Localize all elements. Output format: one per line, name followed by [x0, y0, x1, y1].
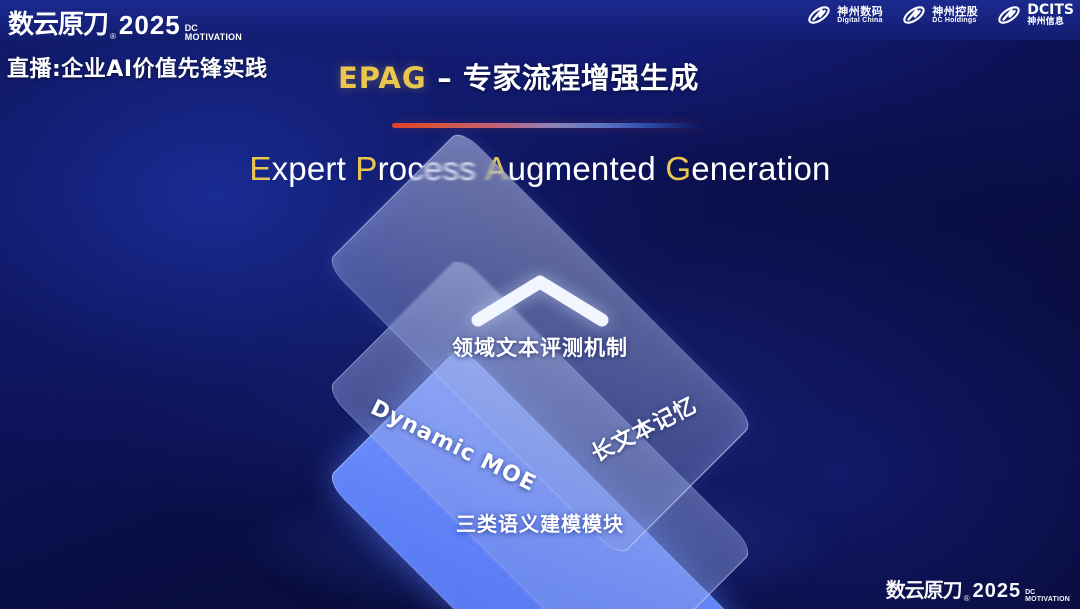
expansion-rest-augmented: ugmented	[508, 150, 656, 187]
event-logo-year: 2025	[119, 10, 181, 41]
layer-plate	[325, 128, 754, 557]
title-divider	[392, 123, 700, 128]
diagram-layer-bottom	[325, 345, 754, 609]
expansion-rest-generation: eneration	[691, 150, 830, 187]
partner-name-en: 神州信息	[1027, 18, 1074, 27]
event-logo-motivation: MOTIVATION	[1025, 597, 1070, 603]
expansion-cap-g: G	[665, 150, 691, 187]
partner-logo-dcits: DCITS 神州信息	[996, 2, 1074, 28]
expansion-cap-e: E	[249, 150, 271, 187]
expansion-rest-expert: xpert	[272, 150, 346, 187]
page-title: EPAG – 专家流程增强生成	[338, 55, 699, 97]
partner-name-en: Digital China	[837, 17, 883, 24]
event-logo-motivation: MOTIVATION	[185, 33, 242, 41]
event-logo-header: 数云原刀 ® 2025 DC MOTIVATION	[8, 4, 242, 41]
expansion-cap-p: P	[355, 150, 377, 187]
title-acronym: EPAG	[338, 61, 427, 95]
title-dash: –	[427, 61, 463, 95]
swirl-logo-icon	[806, 2, 832, 28]
partner-name-cn: 神州数码	[837, 6, 883, 18]
registered-mark: ®	[110, 32, 116, 41]
event-logo-cn: 数云原刀	[886, 574, 962, 603]
partner-name-cn: 神州控股	[932, 6, 978, 18]
layer-label-dynamic-moe: Dynamic MOE	[367, 395, 541, 497]
layer-label-top: 领域文本评测机制	[0, 332, 1080, 362]
slide-canvas: 数云原刀 ® 2025 DC MOTIVATION 神州数码 Digital C…	[0, 0, 1080, 609]
title-chinese: 专家流程增强生成	[463, 61, 699, 95]
swirl-logo-icon	[996, 2, 1022, 28]
acronym-expansion: Expert Process Augmented Generation	[0, 150, 1080, 188]
layer-label-bottom: 三类语义建模模块	[0, 508, 1080, 537]
diagram-layer-top	[325, 128, 754, 557]
event-logo-cn: 数云原刀	[8, 4, 108, 41]
live-stream-label: 直播:企业AI价值先锋实践	[7, 51, 268, 83]
registered-mark: ®	[964, 594, 970, 603]
event-logo-year: 2025	[973, 580, 1022, 603]
partner-name-cn: DCITS	[1027, 3, 1074, 18]
partner-logo-group: 神州数码 Digital China 神州控股 DC Holdings	[806, 2, 1074, 28]
layer-plate	[325, 255, 754, 609]
floor-glow	[240, 470, 840, 609]
chevron-up-icon	[468, 272, 612, 330]
partner-name-en: DC Holdings	[932, 17, 978, 24]
diagram-layer-middle	[325, 255, 754, 609]
expansion-rest-process: rocess	[378, 150, 476, 187]
partner-logo-digital-china: 神州数码 Digital China	[806, 2, 883, 28]
partner-logo-dc-holdings: 神州控股 DC Holdings	[901, 2, 978, 28]
layer-label-long-text-memory: 长文本记忆	[585, 388, 702, 469]
event-logo-footer: 数云原刀 ® 2025 DC MOTIVATION	[886, 574, 1070, 603]
swirl-logo-icon	[901, 2, 927, 28]
layer-plate	[325, 345, 754, 609]
expansion-cap-a: A	[485, 150, 507, 187]
